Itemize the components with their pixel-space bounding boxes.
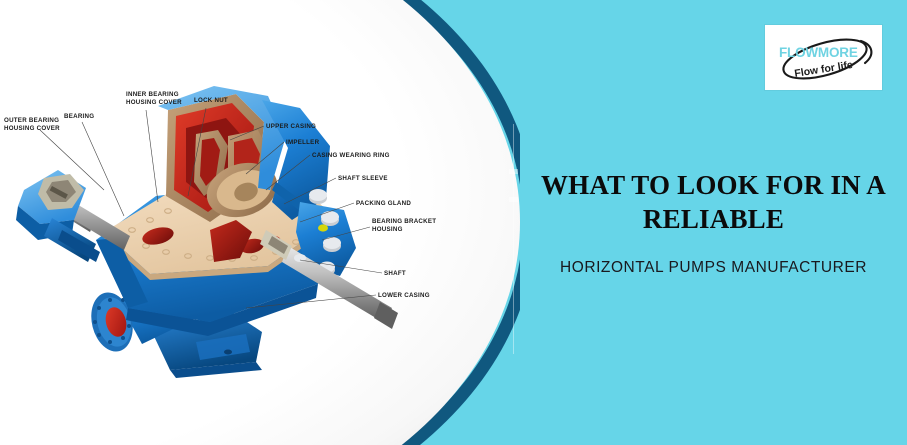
- label-inner-bearing-housing-cover-line1: INNER BEARING: [126, 91, 179, 98]
- headline-line-2: RELIABLE: [643, 204, 784, 234]
- label-inner-bearing-housing-cover-line2: HOUSING COVER: [126, 99, 182, 106]
- decorative-tick-line: [513, 124, 514, 354]
- label-bearing: BEARING: [64, 113, 94, 120]
- label-outer-bearing-housing-cover-line2: HOUSING COVER: [4, 125, 60, 132]
- label-upper-casing: UPPER CASING: [266, 123, 316, 130]
- promo-banner: OUTER BEARING HOUSING COVER BEARING INNE…: [0, 0, 907, 445]
- label-bearing-bracket-housing-line1: BEARING BRACKET: [372, 218, 436, 225]
- label-impeller: IMPELLER: [286, 139, 320, 146]
- logo-brand-text: FLOWMORE: [779, 45, 858, 60]
- headline: WHAT TO LOOK FOR IN A RELIABLE: [520, 168, 907, 236]
- decorative-tick-mark: [509, 169, 518, 174]
- decorative-tick-mark: [509, 197, 518, 202]
- headline-line-1: WHAT TO LOOK FOR IN A: [541, 170, 886, 200]
- label-bearing-bracket-housing-line2: HOUSING: [372, 226, 403, 233]
- label-outer-bearing-housing-cover-line1: OUTER BEARING: [4, 117, 59, 124]
- label-packing-gland: PACKING GLAND: [356, 200, 411, 207]
- label-casing-wearing-ring: CASING WEARING RING: [312, 152, 390, 159]
- label-shaft-sleeve: SHAFT SLEEVE: [338, 175, 388, 182]
- label-lock-nut: LOCK NUT: [194, 97, 228, 104]
- label-shaft: SHAFT: [384, 270, 406, 277]
- pump-cutaway-illustration: OUTER BEARING HOUSING COVER BEARING INNE…: [0, 70, 470, 400]
- label-lower-casing: LOWER CASING: [378, 292, 430, 299]
- flowmore-logo[interactable]: FLOWMORE Flow for life: [765, 25, 882, 90]
- subtitle: HORIZONTAL PUMPS MANUFACTURER: [520, 259, 907, 277]
